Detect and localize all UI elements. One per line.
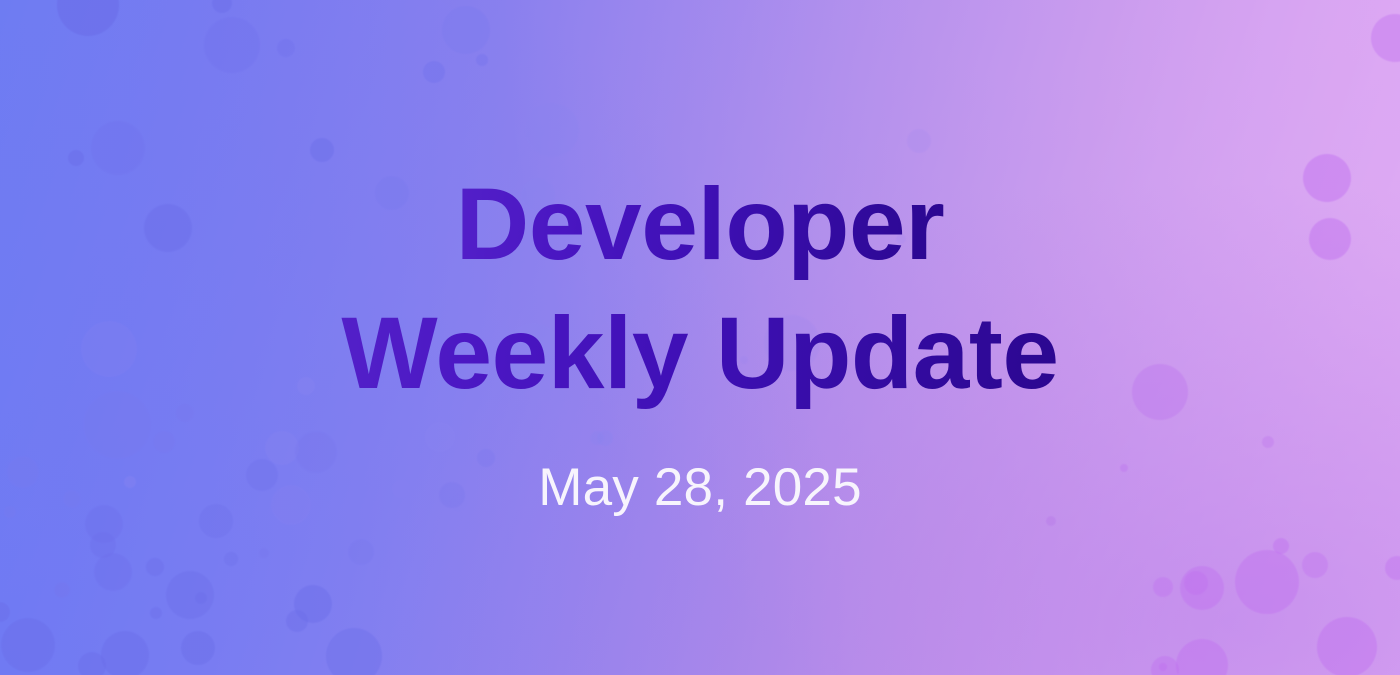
- developer-weekly-update-banner: Developer Weekly Update May 28, 2025: [0, 0, 1400, 675]
- headline-line-1: Developer: [456, 157, 945, 292]
- banner-date: May 28, 2025: [538, 457, 862, 518]
- banner-content: Developer Weekly Update May 28, 2025: [0, 0, 1400, 675]
- headline-line-2: Weekly Update: [341, 286, 1058, 421]
